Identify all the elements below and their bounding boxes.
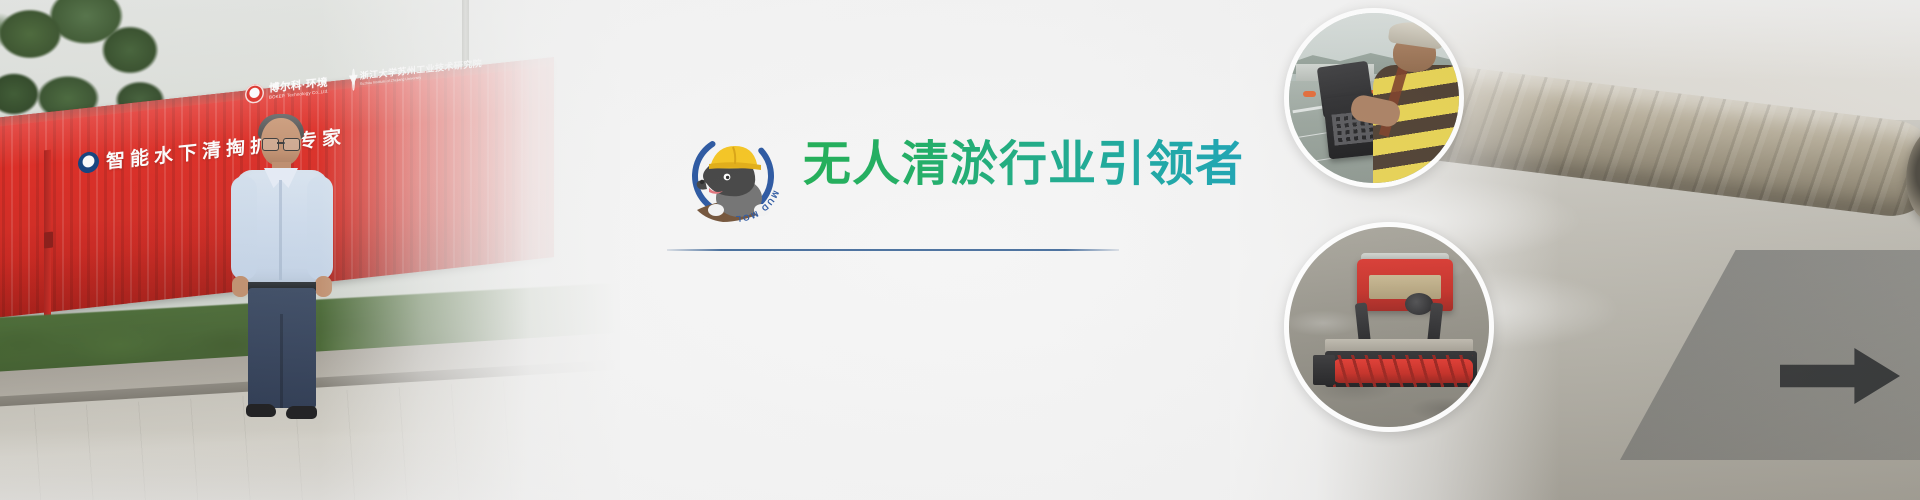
- container-latch: [44, 232, 53, 249]
- figure-left-shoe: [246, 404, 276, 417]
- left-photo: 博尔科·环境 BOKEP. Technology Co.,Ltd. 浙江大学苏州…: [0, 0, 620, 500]
- left-photo-bottom-fade: [0, 430, 620, 500]
- hero-banner: 博尔科·环境 BOKEP. Technology Co.,Ltd. 浙江大学苏州…: [0, 0, 1920, 500]
- orange-float: [1303, 91, 1316, 97]
- divider: [667, 249, 1119, 251]
- figure-left-hand: [232, 276, 249, 297]
- headline-text: 无人清淤行业引领者: [803, 124, 1244, 194]
- company-seal-icon: [245, 83, 264, 104]
- slogan-bullet-icon: [78, 151, 99, 174]
- headline: 无人清淤行业引领者: [803, 128, 1244, 190]
- dredging-robot-photo: [1284, 222, 1494, 432]
- robot-scene: [1289, 227, 1489, 427]
- banner-center-content: MUD MOLE 无人清淤行业引领者: [665, 0, 1135, 500]
- figure-leg-seam: [280, 314, 283, 408]
- logo-mole-pupil: [726, 176, 729, 179]
- left-photo-right-fade: [320, 0, 620, 500]
- mud-mole-logo-graphic: MUD MOLE: [683, 130, 795, 222]
- robot-deck-plate: [1369, 275, 1441, 299]
- figure-left-arm: [231, 176, 257, 280]
- robot-motor: [1405, 293, 1433, 315]
- eyeglasses-bridge: [277, 142, 285, 144]
- auger-end-bearing: [1313, 355, 1335, 385]
- operator-figure: [1367, 20, 1464, 183]
- operator-console-photo: [1284, 8, 1464, 188]
- logo-left-glove: [708, 204, 724, 216]
- logo-mole-nose: [700, 180, 704, 184]
- operator-scene: [1289, 13, 1459, 183]
- figure-right-shoe: [286, 406, 317, 419]
- figure-shirt-placket: [279, 180, 282, 280]
- mud-mole-logo: MUD MOLE: [683, 130, 795, 222]
- auger-flights: [1333, 355, 1473, 387]
- eyeglasses-icon: [262, 138, 300, 149]
